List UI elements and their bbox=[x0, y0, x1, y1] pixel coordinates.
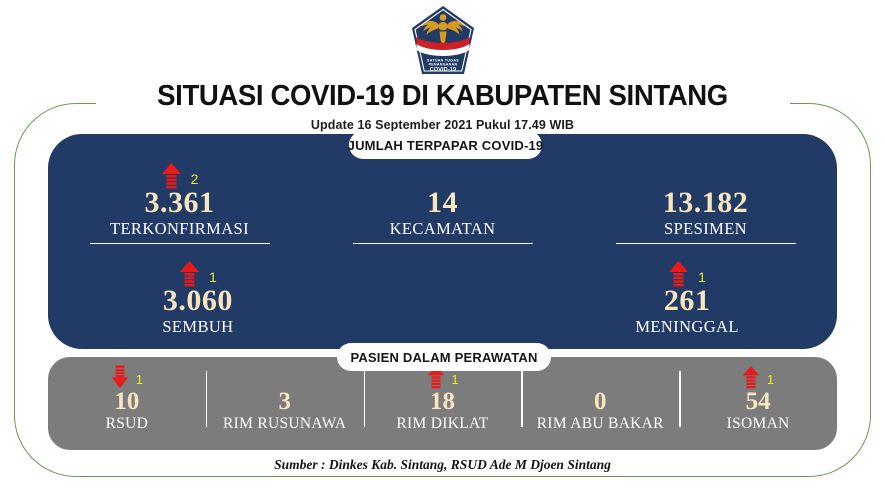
value-rsud: 10 bbox=[114, 389, 139, 415]
arrow-down-icon bbox=[111, 365, 129, 389]
value-sembuh: 3.060 bbox=[163, 286, 233, 317]
delta-value-isoman: 1 bbox=[767, 374, 774, 387]
care-cell-rim-rusunawa: 3 RIM RUSUNAWA bbox=[206, 357, 364, 450]
value-rim-diklat: 18 bbox=[430, 389, 455, 415]
stat-kecamatan: 14 KECAMATAN bbox=[311, 160, 574, 248]
update-timestamp: Update 16 September 2021 Pukul 17.49 WIB bbox=[0, 118, 885, 132]
value-rim-abu-bakar: 0 bbox=[594, 389, 607, 415]
label-rim-diklat: RIM DIKLAT bbox=[396, 415, 488, 432]
care-cell-rsud: 1 10 RSUD bbox=[48, 357, 206, 450]
delta-rsud: 1 bbox=[111, 363, 143, 389]
label-rsud: RSUD bbox=[106, 415, 149, 432]
delta-isoman: 1 bbox=[742, 363, 774, 389]
value-isoman: 54 bbox=[746, 389, 771, 415]
label-spesimen: SPESIMEN bbox=[664, 220, 747, 238]
satgas-covid19-logo: SATUAN TUGAS PENANGANAN COVID-19 bbox=[408, 4, 478, 78]
page-title: SITUASI COVID-19 DI KABUPATEN SINTANG bbox=[22, 80, 863, 113]
stat-terkonfirmasi: 2 3.361 TERKONFIRMASI bbox=[48, 160, 311, 248]
label-kecamatan: KECAMATAN bbox=[390, 220, 496, 238]
delta-value-meninggal: 1 bbox=[698, 270, 706, 284]
label-meninggal: MENINGGAL bbox=[635, 318, 739, 336]
covid-situation-infographic: SATUAN TUGAS PENANGANAN COVID-19 SITUASI… bbox=[0, 0, 885, 491]
label-rim-rusunawa: RIM RUSUNAWA bbox=[223, 415, 346, 432]
label-isoman: ISOMAN bbox=[727, 415, 790, 432]
stat-meninggal: 1 261 MENINGGAL bbox=[537, 258, 837, 344]
value-rim-rusunawa: 3 bbox=[278, 389, 291, 415]
svg-text:PENANGANAN: PENANGANAN bbox=[428, 63, 457, 67]
value-meninggal: 261 bbox=[664, 286, 711, 317]
divider-kecamatan bbox=[353, 243, 533, 245]
delta-value-terkonfirmasi: 2 bbox=[191, 172, 199, 186]
divider-spesimen bbox=[616, 243, 796, 245]
value-spesimen: 13.182 bbox=[663, 188, 749, 219]
label-sembuh: SEMBUH bbox=[162, 318, 233, 336]
delta-value-rsud: 1 bbox=[136, 374, 143, 387]
delta-value-rim-diklat: 1 bbox=[452, 374, 459, 387]
header: SATUAN TUGAS PENANGANAN COVID-19 SITUASI… bbox=[0, 0, 885, 132]
stat-sembuh: 1 3.060 SEMBUH bbox=[48, 258, 348, 344]
svg-text:COVID-19: COVID-19 bbox=[429, 67, 455, 73]
patients-in-care-badge: PASIEN DALAM PERAWATAN bbox=[337, 343, 551, 371]
source-text: Sumber : Dinkes Kab. Sintang, RSUD Ade M… bbox=[274, 457, 611, 472]
label-terkonfirmasi: TERKONFIRMASI bbox=[110, 220, 249, 238]
divider-terkonfirmasi bbox=[90, 243, 270, 245]
value-kecamatan: 14 bbox=[427, 188, 458, 219]
footer: Sumber : Dinkes Kab. Sintang, RSUD Ade M… bbox=[0, 456, 885, 474]
stat-spesimen: 13.182 SPESIMEN bbox=[574, 160, 837, 248]
exposed-top-row: 2 3.361 TERKONFIRMASI 14 KECAMATAN 13.18… bbox=[48, 160, 837, 248]
value-terkonfirmasi: 3.361 bbox=[145, 188, 215, 219]
delta-value-sembuh: 1 bbox=[209, 270, 217, 284]
stat-spacer bbox=[348, 258, 537, 344]
exposed-cases-badge: JUMLAH TERPAPAR COVID-19 bbox=[349, 131, 542, 159]
arrow-up-icon bbox=[742, 365, 760, 389]
care-cell-isoman: 1 54 ISOMAN bbox=[679, 357, 837, 450]
label-rim-abu-bakar: RIM ABU BAKAR bbox=[537, 415, 664, 432]
care-cell-rim-abu-bakar: 0 RIM ABU BAKAR bbox=[521, 357, 679, 450]
exposed-mid-row: 1 3.060 SEMBUH 1 261 MENINGGAL bbox=[48, 258, 837, 344]
